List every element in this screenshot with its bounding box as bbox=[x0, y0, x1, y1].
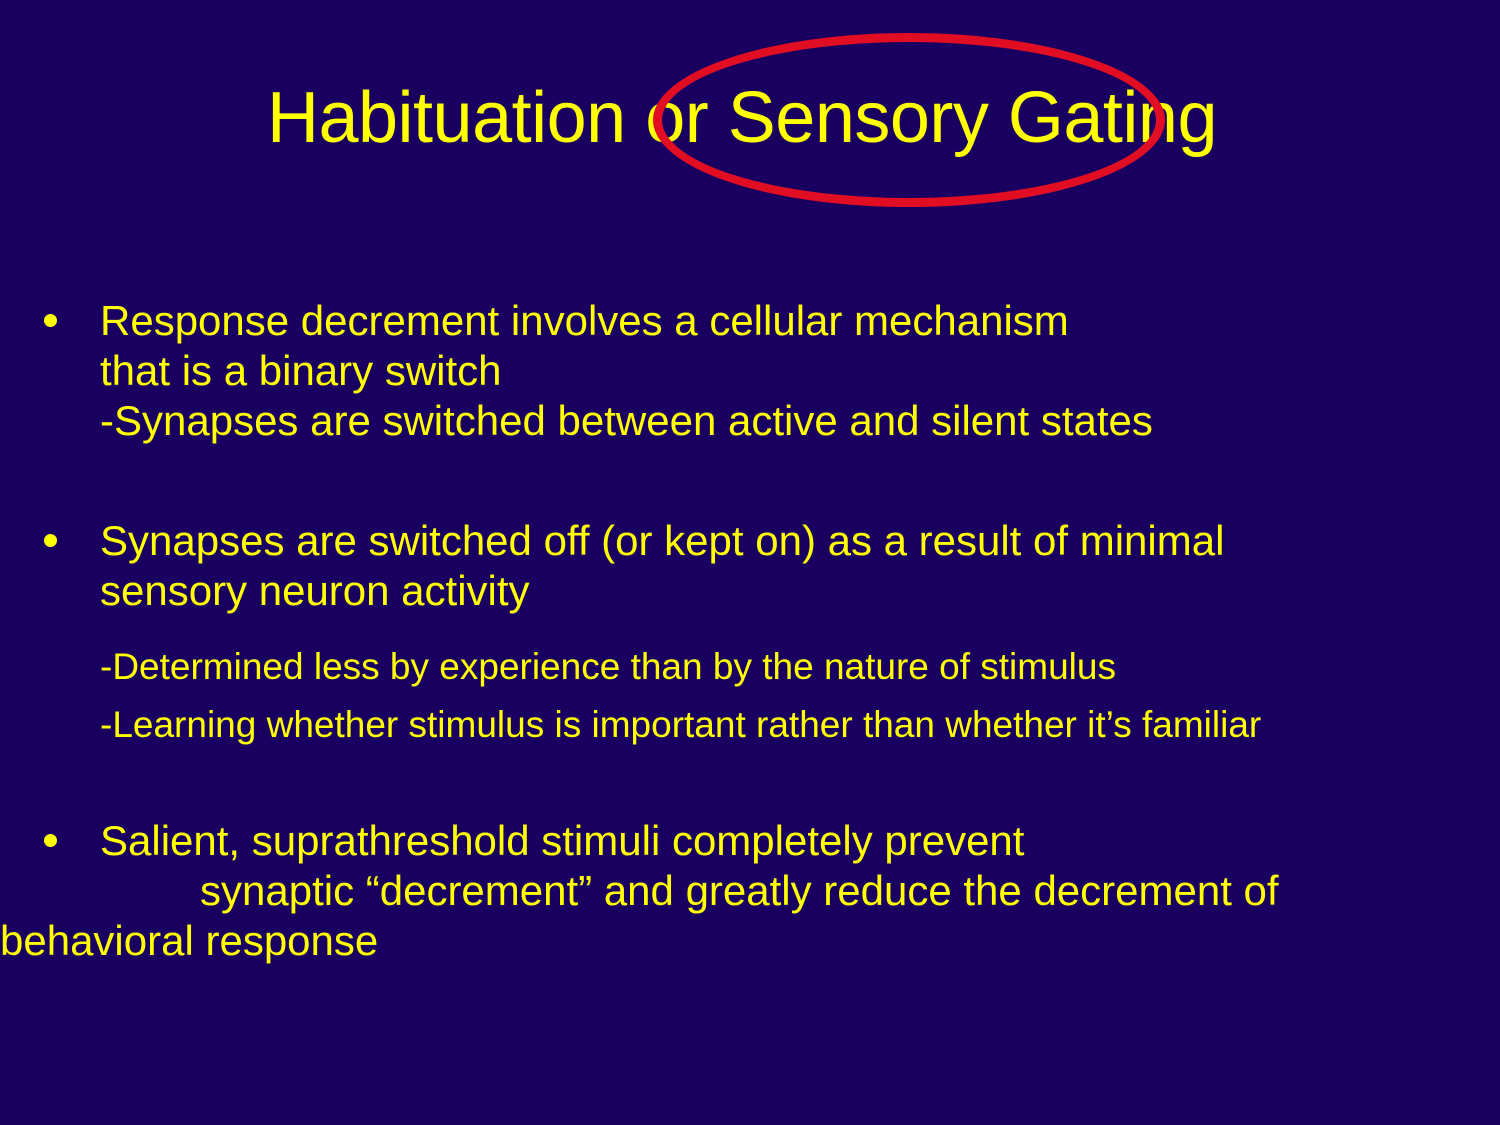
bullet-2-line-2: sensory neuron activity bbox=[100, 566, 1460, 616]
bullet-item-1: Response decrement involves a cellular m… bbox=[0, 296, 1500, 446]
round-bullet-icon bbox=[44, 834, 57, 847]
body-content: Response decrement involves a cellular m… bbox=[0, 296, 1500, 966]
bullet-item-3: Salient, suprathreshold stimuli complete… bbox=[0, 816, 1500, 966]
spacer-1 bbox=[0, 446, 1500, 516]
bullet-1-lines: Response decrement involves a cellular m… bbox=[100, 296, 1460, 446]
bullet-2-subline-1: -Determined less by experience than by t… bbox=[100, 638, 1460, 696]
bullet-3-line-2: synaptic “decrement” and greatly reduce … bbox=[100, 866, 1460, 916]
bullet-2-line-1: Synapses are switched off (or kept on) a… bbox=[100, 516, 1460, 566]
spacer-2a bbox=[100, 616, 1460, 638]
bullet-1-line-1: Response decrement involves a cellular m… bbox=[100, 296, 1460, 346]
bullet-3-line-3: behavioral response bbox=[0, 916, 1460, 966]
round-bullet-icon bbox=[44, 534, 57, 547]
bullet-3-lines: Salient, suprathreshold stimuli complete… bbox=[100, 816, 1460, 966]
bullet-2-lines: Synapses are switched off (or kept on) a… bbox=[100, 516, 1460, 754]
bullet-item-2: Synapses are switched off (or kept on) a… bbox=[0, 516, 1500, 754]
bullet-1-line-2: that is a binary switch bbox=[100, 346, 1460, 396]
bullet-3-line-1: Salient, suprathreshold stimuli complete… bbox=[100, 816, 1460, 866]
round-bullet-icon bbox=[44, 314, 57, 327]
bullet-1-line-3: -Synapses are switched between active an… bbox=[100, 396, 1460, 446]
bullet-2-subline-2: -Learning whether stimulus is important … bbox=[100, 696, 1460, 754]
spacer-3 bbox=[0, 754, 1500, 816]
title-block: Habituation or Sensory Gating bbox=[0, 78, 1500, 158]
page-title: Habituation or Sensory Gating bbox=[267, 78, 1217, 158]
slide-canvas: Habituation or Sensory Gating Response d… bbox=[0, 0, 1500, 1125]
